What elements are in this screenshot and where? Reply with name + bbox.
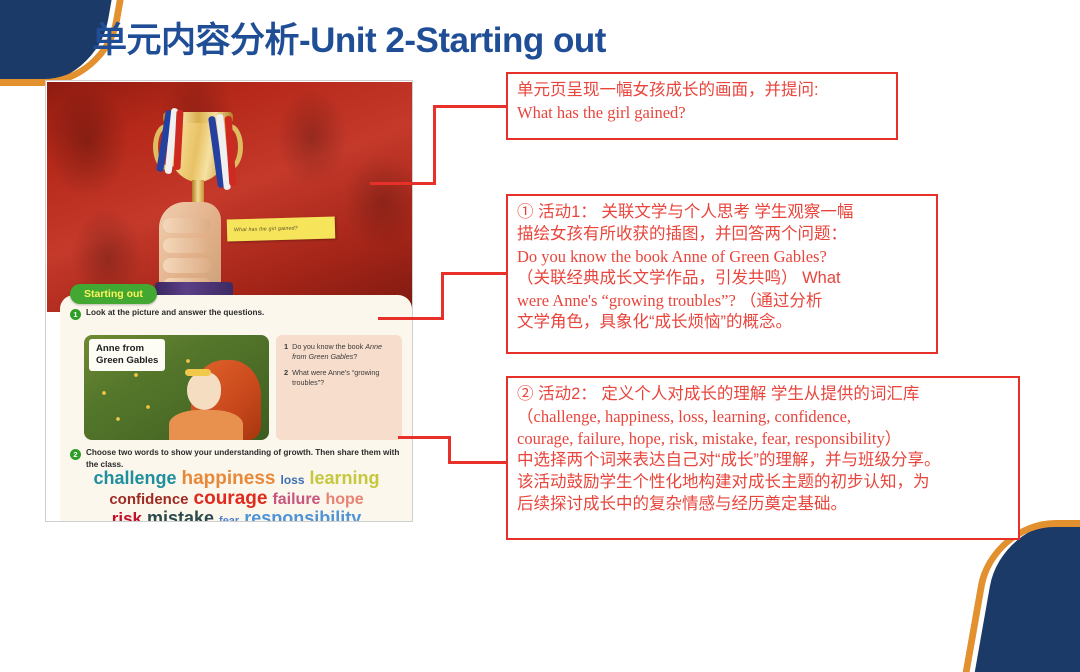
bottom-right-corner-stripe [963,520,1080,672]
note-2-line-3: Do you know the book Anne of Green Gable… [517,246,927,268]
note-1-line-2: What has the girl gained? [517,102,887,124]
aq1-before: Do you know the book [292,342,365,351]
anne-question-1-text: Do you know the book Anne from Green Gab… [292,342,394,363]
word-cloud-term: responsibility [244,508,361,522]
word-cloud-row-3: riskmistakefearresponsibility [74,509,404,522]
word-cloud: challengehappinesslosslearningconfidence… [74,469,404,522]
book-cover-label: Anne from Green Gables [89,339,165,371]
word-cloud-term: learning [310,468,380,488]
word-cloud-term: challenge [93,468,176,488]
book-cover-label-line2: Green Gables [96,355,158,367]
lesson-panel: 1 Look at the picture and answer the que… [60,295,412,522]
word-cloud-term: mistake [147,508,214,522]
word-cloud-term: risk [112,509,142,522]
textbook-page-image: What has the girl gained? Starting out 1… [45,80,413,522]
annotation-note-1: 单元页呈现一幅女孩成长的画面，并提问: What has the girl ga… [506,72,898,140]
anne-flower-crown [185,369,211,376]
anne-illustration: Anne from Green Gables [84,335,269,440]
trophy-photograph: What has the girl gained? [47,82,413,312]
note-2-line-5: were Anne's “growing troubles”? （通过分析 [517,290,927,312]
note-2-line-6: 文学角色，具象化“成长烦恼”的概念。 [517,312,927,334]
note-3-line-5: 该活动鼓励学生个性化地构建对成长主题的初步认知，为 [517,472,1009,494]
anne-body [169,410,243,440]
word-cloud-term: courage [194,488,268,509]
word-cloud-term: fear [219,515,239,522]
note-1-line-1: 单元页呈现一幅女孩成长的画面，并提问: [517,80,887,102]
anne-question-1-number: 1 [284,342,288,363]
anne-questions-panel: 1 Do you know the book Anne from Green G… [276,335,402,440]
word-cloud-term: hope [325,491,363,508]
word-cloud-row-2: confidencecouragefailurehope [74,489,404,509]
word-cloud-term: confidence [109,491,188,508]
sticky-note-text: What has the girl gained? [227,216,335,233]
starting-out-badge: Starting out [70,284,157,304]
anne-activity-block: Anne from Green Gables 1 Do you know the… [84,335,402,440]
note-3-line-1: ② 活动2： 定义个人对成长的理解 学生从提供的词汇库 [517,384,1009,406]
note-3-line-6: 后续探讨成长中的复杂情感与经历奠定基础。 [517,494,1009,516]
anne-question-2: 2 What were Anne's “growing troubles”? [284,368,394,389]
annotation-note-2: ① 活动1： 关联文学与个人思考 学生观察一幅 描绘女孩有所收获的插图，并回答两… [506,194,938,354]
word-cloud-term: happiness [182,468,276,489]
word-cloud-term: loss [280,473,304,487]
aq1-after: ? [353,352,357,361]
note-2-line-2: 描绘女孩有所收获的插图，并回答两个问题： [517,224,927,246]
word-cloud-term: failure [272,491,320,508]
task-1-instruction: Look at the picture and answer the quest… [86,307,264,319]
page-title: 单元内容分析-Unit 2-Starting out [92,12,606,63]
sticky-note: What has the girl gained? [227,216,336,241]
anne-face [187,372,221,410]
word-cloud-row-1: challengehappinesslosslearning [74,469,404,489]
anne-question-1: 1 Do you know the book Anne from Green G… [284,342,394,363]
task-1-number: 1 [70,309,81,320]
annotation-note-3: ② 活动2： 定义个人对成长的理解 学生从提供的词汇库 （challenge, … [506,376,1020,540]
anne-question-2-text: What were Anne's “growing troubles”? [292,368,394,389]
note-2-line-1: ① 活动1： 关联文学与个人思考 学生观察一幅 [517,202,927,224]
anne-question-2-number: 2 [284,368,288,389]
note-2-line-4: （关联经典成长文学作品，引发共鸣） What [517,268,927,290]
note-3-line-3: courage, failure, hope, risk, mistake, f… [517,428,1009,450]
task-2-number: 2 [70,449,81,460]
note-3-line-4: 中选择两个词来表达自己对“成长”的理解，并与班级分享。 [517,450,1009,472]
note-3-line-2: （challenge, happiness, loss, learning, c… [517,406,1009,428]
book-cover-label-line1: Anne from [96,343,158,355]
